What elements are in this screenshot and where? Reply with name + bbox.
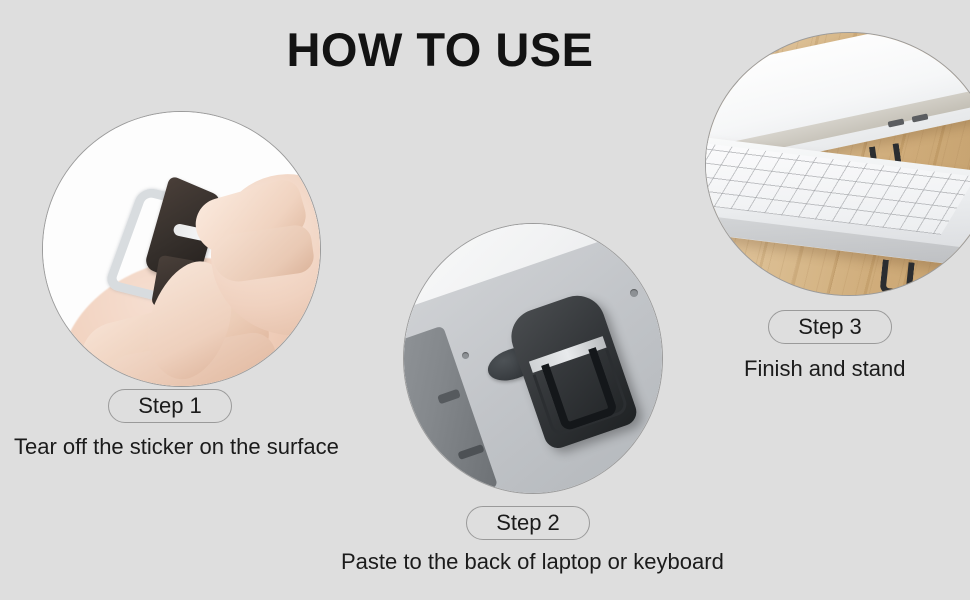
step-1-photo-inner <box>43 112 320 386</box>
step-2-badge: Step 2 <box>466 506 590 540</box>
step-3-badge: Step 3 <box>768 310 892 344</box>
step-3-caption: Finish and stand <box>744 356 905 382</box>
laptop-screw-shape <box>462 352 469 359</box>
how-to-use-infographic: HOW TO USE <box>0 0 970 600</box>
step-2-caption: Paste to the back of laptop or keyboard <box>341 549 724 575</box>
step-1-photo <box>42 111 321 387</box>
step-2-photo-inner <box>404 224 662 493</box>
step-2-photo <box>403 223 663 494</box>
step-3-photo <box>705 32 970 296</box>
step-3-photo-inner <box>706 33 970 295</box>
step-1-badge: Step 1 <box>108 389 232 423</box>
laptop-screw-shape <box>630 289 638 297</box>
step-1-caption: Tear off the sticker on the surface <box>14 434 339 460</box>
stand-leg-shape <box>879 259 914 295</box>
